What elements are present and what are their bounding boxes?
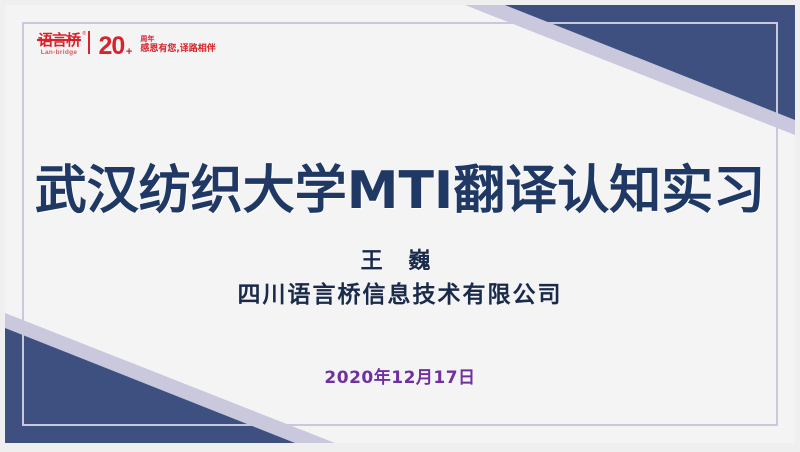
anniversary-plus-sign: +	[126, 48, 131, 57]
registered-trademark-icon: ®	[82, 32, 86, 37]
logo-chinese-name: 语言桥	[38, 33, 80, 48]
presenter-block: 王 巍 四川语言桥信息技术有限公司	[5, 248, 795, 309]
logo-divider	[88, 31, 90, 54]
slide-date: 2020年12月17日	[5, 363, 795, 388]
presenter-organization: 四川语言桥信息技术有限公司	[5, 280, 795, 310]
logo-tagline-group: 周年 感恩有您,译路相伴	[140, 36, 215, 55]
slide-canvas: 语言桥 ® Lan-bridge 20 + 周年 感恩有您,译路相伴 武汉纺织大…	[5, 5, 795, 443]
slide-title: 武汉纺织大学MTI翻译认知实习	[5, 163, 795, 220]
anniversary-label: 周年	[140, 36, 215, 44]
anniversary-number-text: 20	[99, 32, 125, 60]
logo-wordmark: 语言桥 ® Lan-bridge	[38, 33, 80, 57]
date-block: 2020年12月17日	[5, 363, 795, 388]
presentation-slide: 语言桥 ® Lan-bridge 20 + 周年 感恩有您,译路相伴 武汉纺织大…	[0, 0, 800, 452]
presenter-name: 王 巍	[5, 248, 795, 276]
logo-english-name: Lan-bridge	[41, 50, 78, 57]
top-right-navy-wedge	[505, 5, 795, 120]
top-right-lavender-wedge	[465, 5, 795, 135]
anniversary-number: 20 +	[99, 36, 125, 57]
title-block: 武汉纺织大学MTI翻译认知实习	[5, 163, 795, 220]
brand-logo: 语言桥 ® Lan-bridge 20 + 周年 感恩有您,译路相伴	[38, 31, 216, 56]
brand-slogan: 感恩有您,译路相伴	[140, 45, 215, 55]
